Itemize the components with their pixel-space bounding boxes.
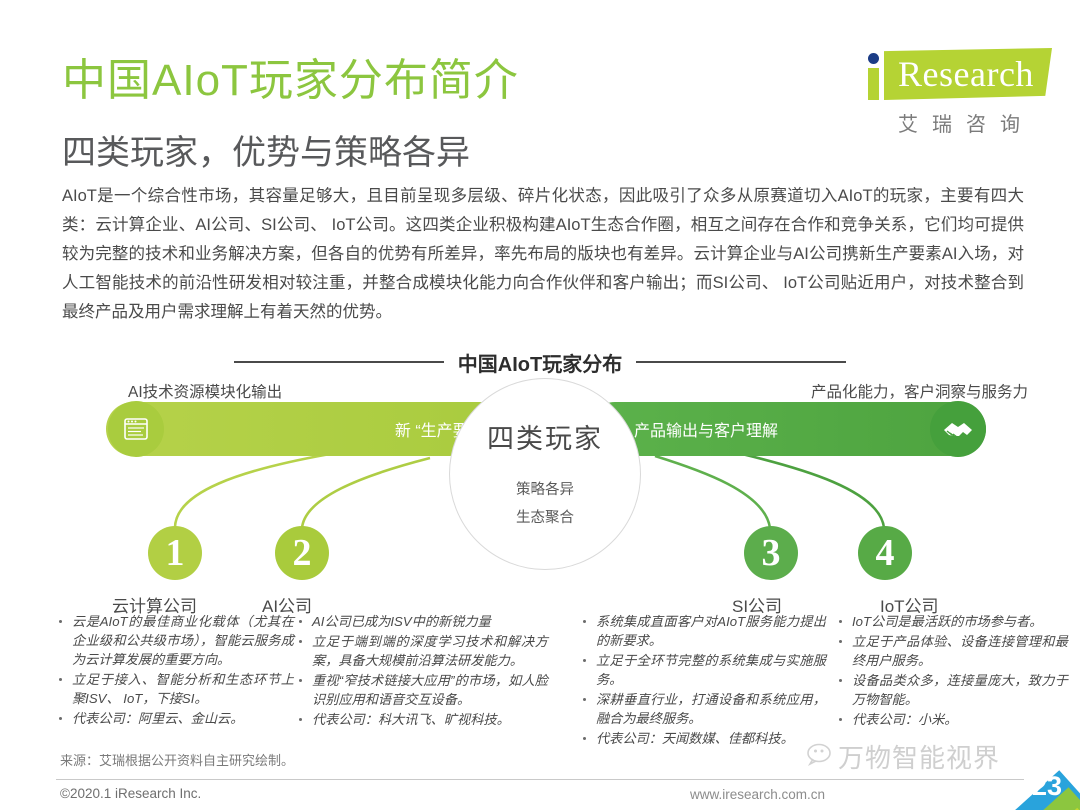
- list-item: 代表公司：天闻数媒、佳都科技。: [580, 729, 826, 748]
- intro-paragraph: AIoT是一个综合性市场，其容量足够大，且目前呈现多层级、碎片化状态，因此吸引了…: [62, 182, 1024, 327]
- center-title: 四类玩家: [450, 417, 640, 456]
- logo-chinese-name: 艾瑞咨询: [898, 108, 1034, 137]
- column-si: 系统集成直面客户对AIoT服务能力提出的新要求。 立足于全环节完整的系统集成与实…: [580, 612, 826, 749]
- bullet-list-si: 系统集成直面客户对AIoT服务能力提出的新要求。 立足于全环节完整的系统集成与实…: [580, 612, 826, 748]
- center-line-2: 生态聚合: [450, 506, 640, 527]
- logo-wordmark: Research: [898, 53, 1034, 95]
- list-item: 重视“窄技术链接大应用”的市场，如人脸识别应用和语音交互设备。: [296, 671, 548, 709]
- code-window-icon: [108, 401, 164, 457]
- wechat-bubble-icon: [806, 742, 840, 768]
- center-circle: 四类玩家 策略各异 生态聚合: [449, 378, 641, 570]
- handshake-icon: [930, 401, 986, 457]
- website-text: www.iresearch.com.cn: [690, 787, 825, 802]
- page-subtitle: 四类玩家，优势与策略各异: [62, 125, 470, 174]
- list-item: 深耕垂直行业，打通设备和系统应用，融合为最终服务。: [580, 690, 826, 728]
- bullet-list-cloud: 云是AIoT的最佳商业化载体（尤其在企业级和公共级市场），智能云服务成为云计算发…: [56, 612, 294, 728]
- node-number-2: 2: [275, 526, 329, 580]
- list-item: 系统集成直面客户对AIoT服务能力提出的新要求。: [580, 612, 826, 650]
- list-item: 立足于接入、智能分析和生态环节上聚ISV、 IoT，下接SI。: [56, 670, 294, 708]
- list-item: AI公司已成为ISV中的新锐力量: [296, 612, 548, 631]
- bullet-list-iot: IoT公司是最活跃的市场参与者。 立足于产品体验、设备连接管理和最终用户服务。 …: [836, 612, 1068, 729]
- column-cloud: 云是AIoT的最佳商业化载体（尤其在企业级和公共级市场），智能云服务成为云计算发…: [56, 612, 294, 729]
- logo-i-dot-icon: [868, 53, 879, 64]
- footer-divider: [56, 779, 1024, 780]
- column-iot: IoT公司是最活跃的市场参与者。 立足于产品体验、设备连接管理和最终用户服务。 …: [836, 612, 1068, 730]
- iresearch-logo: Research 艾瑞咨询: [854, 46, 1054, 138]
- list-item: 代表公司：阿里云、金山云。: [56, 709, 294, 728]
- logo-i-stem: [868, 68, 879, 100]
- list-item: 云是AIoT的最佳商业化载体（尤其在企业级和公共级市场），智能云服务成为云计算发…: [56, 612, 294, 669]
- list-item: IoT公司是最活跃的市场参与者。: [836, 612, 1068, 631]
- column-ai: AI公司已成为ISV中的新锐力量 立足于端到端的深度学习技术和解决方案，具备大规…: [296, 612, 548, 730]
- copyright-text: ©2020.1 iResearch Inc.: [60, 786, 201, 801]
- bar-product-output: 产品输出与客户理解: [588, 402, 986, 456]
- node-number-1: 1: [148, 526, 202, 580]
- node-number-4: 4: [858, 526, 912, 580]
- bullet-list-ai: AI公司已成为ISV中的新锐力量 立足于端到端的深度学习技术和解决方案，具备大规…: [296, 612, 548, 729]
- source-note: 来源：艾瑞根据公开资料自主研究绘制。: [60, 750, 294, 769]
- list-item: 立足于端到端的深度学习技术和解决方案，具备大规模前沿算法研发能力。: [296, 632, 548, 670]
- bar-right-label: 产品输出与客户理解: [634, 417, 778, 441]
- list-item: 立足于产品体验、设备连接管理和最终用户服务。: [836, 632, 1068, 670]
- page-title: 中国AIoT玩家分布简介: [62, 58, 519, 104]
- logo-mark: Research: [854, 46, 1054, 104]
- node-number-3: 3: [744, 526, 798, 580]
- list-item: 设备品类众多，连接量庞大，致力于万物智能。: [836, 671, 1068, 709]
- list-item: 代表公司：小米。: [836, 710, 1068, 729]
- center-line-1: 策略各异: [450, 478, 640, 499]
- list-item: 代表公司：科大讯飞、旷视科技。: [296, 710, 548, 729]
- slide-root: 中国AIoT玩家分布简介 四类玩家，优势与策略各异 Research 艾瑞咨询 …: [0, 0, 1080, 810]
- page-number: 23: [1032, 771, 1062, 802]
- watermark-text: 万物智能视界: [838, 738, 1000, 775]
- list-item: 立足于全环节完整的系统集成与实施服务。: [580, 651, 826, 689]
